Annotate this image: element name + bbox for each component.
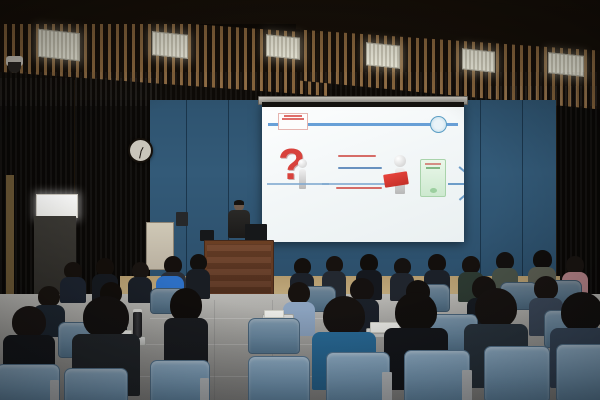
projection-screen: ?: [262, 102, 464, 242]
wooden-lectern: [204, 240, 274, 296]
seat-post-1: [50, 380, 59, 400]
wall-clock: [128, 138, 153, 163]
ceiling-light-1: [38, 29, 80, 61]
slide-header-tag: [278, 113, 308, 130]
lecture-seat-front-8: [556, 344, 600, 400]
lecture-seat-front-6: [404, 350, 470, 400]
seat-post-3: [382, 372, 392, 400]
slide-text-line-3: [336, 187, 382, 189]
notebook-2: [264, 310, 284, 318]
person-front-ponytail: [166, 288, 206, 360]
slide-text-line-2: [338, 167, 382, 169]
ceiling-light-5: [462, 48, 495, 72]
institution-emblem: [430, 116, 447, 133]
ceiling-light-4: [366, 42, 400, 69]
security-camera: [6, 56, 23, 66]
seat-post-2: [200, 378, 209, 400]
slide-content: ?: [262, 107, 464, 242]
lecture-seat-front-4: [248, 356, 310, 400]
ceiling-light-3: [266, 34, 300, 60]
figure-beside-question-mark: [296, 159, 309, 191]
slide-text-line-1: [338, 155, 376, 157]
seat-post-4: [462, 370, 472, 400]
blue-arrow-right: [448, 173, 464, 193]
lecture-seat-row2-2: [248, 318, 300, 354]
slide-connector-line-left: [267, 183, 329, 185]
floor-grout-v1: [214, 300, 215, 400]
green-booklet: [420, 159, 446, 197]
lecture-hall-photo: ?: [0, 0, 600, 400]
lecture-seat-front-7: [484, 346, 550, 400]
wall-seam-right: [556, 92, 557, 292]
clock-minute-hand: [139, 151, 142, 158]
presenter-hair: [234, 200, 244, 205]
ceiling-light-2: [152, 31, 188, 59]
slide-connector-line-mid: [322, 183, 386, 185]
lecture-seat-front-5: [326, 352, 390, 400]
av-equipment-stand: [176, 212, 188, 226]
left-white-panel: [36, 194, 78, 218]
lecture-seat-front-2: [64, 368, 128, 400]
